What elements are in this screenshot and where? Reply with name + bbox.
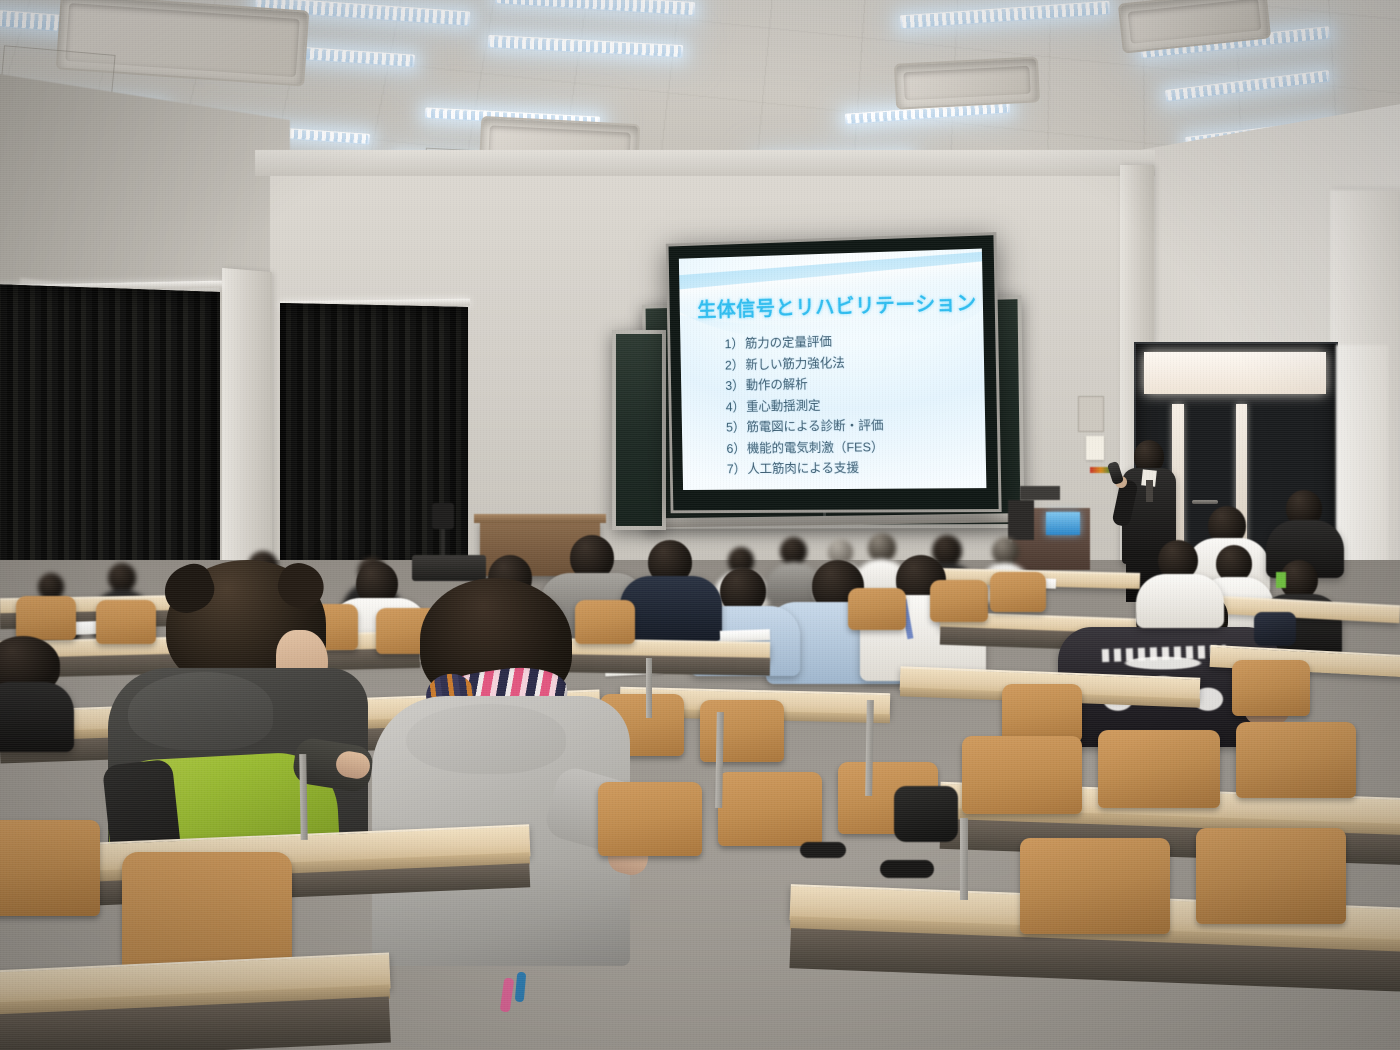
presenter-necktie [1146,480,1153,502]
chair[interactable] [930,580,988,622]
desk-leg [646,658,652,718]
projection-screen: 生体信号とリハビリテーション 1）筋力の定量評価 2）新しい筋力強化法 3）動作… [666,232,1002,513]
shoe [800,842,846,858]
slide-list-item: 5）筋電図による診断・評価 [726,414,976,439]
slide-item-number: 5） [726,417,747,438]
chair[interactable] [16,596,76,640]
chair[interactable] [1020,838,1170,934]
chair[interactable] [962,736,1082,814]
chair[interactable] [1098,730,1220,808]
chair[interactable] [1196,828,1346,924]
window-curtain[interactable] [280,303,468,575]
handout-paper [720,629,770,642]
ceiling-air-vent [894,56,1040,109]
slide-item-text: 動作の解析 [746,377,808,393]
chair[interactable] [0,820,100,916]
attendee-head [992,537,1019,565]
desk-leg [960,818,968,900]
door-handle[interactable] [1192,500,1218,504]
shoe [880,860,934,878]
hoodie-hood-fold [406,704,566,774]
slide-item-number: 4） [726,396,747,417]
slide-item-number: 6） [726,438,747,459]
slide-item-number: 2） [725,354,746,375]
student-left-edge [0,636,76,746]
microphone-stand [432,503,454,529]
desk-leg [299,754,307,840]
slide-list-item: 6）機能的電気刺激（FES） [726,435,976,459]
slide-item-text: 機能的電気刺激（FES） [747,439,884,455]
attendee-torso [1136,574,1224,628]
chair[interactable] [700,700,784,762]
bag-on-floor [1254,612,1296,646]
slide-item-number: 3） [725,375,746,396]
chair[interactable] [990,572,1046,612]
slide-item-number: 7） [727,459,748,480]
slide-bullet-list: 1）筋力の定量評価 2）新しい筋力強化法 3）動作の解析 4）重心動揺測定 5）… [724,328,976,480]
chalkboard-left-edge [612,330,666,530]
lecture-hall-photo: 生体信号とリハビリテーション 1）筋力の定量評価 2）新しい筋力強化法 3）動作… [0,0,1400,1050]
lectern-top [474,514,606,523]
student-jacket-hood [128,672,273,750]
laptop-screen[interactable] [1046,512,1080,535]
slide-item-number: 1） [724,333,745,354]
projector-control-box [1020,486,1060,500]
projected-slide: 生体信号とリハビリテーション 1）筋力の定量評価 2）新しい筋力強化法 3）動作… [679,249,987,490]
slide-item-text: 筋力の定量評価 [745,334,832,351]
chair[interactable] [718,772,822,846]
door-transom-window [1144,352,1326,394]
wall-notice [1086,436,1104,460]
student-gray-hoodie [372,578,662,978]
desk-item-marker[interactable] [1276,572,1286,588]
attendee-behind-right [1136,540,1226,620]
chair[interactable] [1232,660,1310,716]
ceiling-soffit [255,150,1155,176]
slide-list-item: 7）人工筋肉による支援 [727,457,977,480]
chair[interactable] [848,588,906,630]
slide-item-text: 重心動揺測定 [746,398,821,414]
slide-item-text: 人工筋肉による支援 [747,461,859,477]
chair[interactable] [598,782,702,856]
slide-item-text: 筋電図による診断・評価 [746,418,883,435]
chair[interactable] [1236,722,1356,798]
wall-control-panel [1078,396,1104,432]
student-torso [0,682,74,752]
bag-on-floor [894,786,958,842]
chair[interactable] [1002,684,1082,742]
slide-item-text: 新しい筋力強化法 [745,355,845,372]
